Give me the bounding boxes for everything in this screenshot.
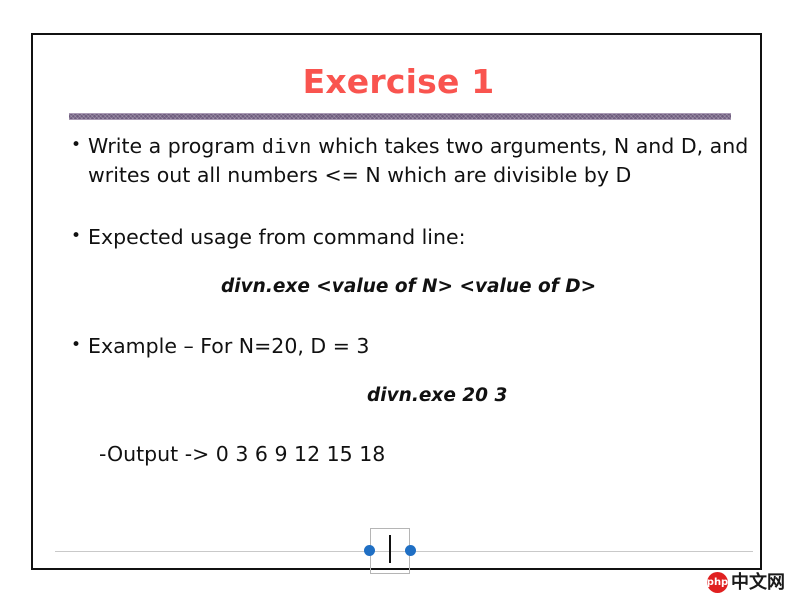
spacer bbox=[71, 406, 761, 442]
slide-frame: Exercise 1 • Write a program divn which … bbox=[31, 33, 762, 570]
bullet-marker-icon: • bbox=[71, 224, 88, 249]
spacer bbox=[71, 297, 761, 333]
text-caret bbox=[389, 535, 391, 563]
spacer bbox=[71, 359, 761, 385]
resize-handle-right[interactable] bbox=[405, 545, 416, 556]
bullet-item-example: • Example – For N=20, D = 3 bbox=[71, 333, 761, 359]
bullet-1-text-before-code: Write a program bbox=[88, 134, 262, 158]
spacer bbox=[71, 250, 761, 276]
selected-textbox[interactable] bbox=[370, 528, 410, 574]
watermark-badge-icon: php bbox=[707, 572, 728, 593]
title-divider-rule bbox=[69, 113, 731, 120]
bullet-marker-icon: • bbox=[71, 133, 88, 158]
bullet-item-write-program: • Write a program divn which takes two a… bbox=[71, 133, 761, 188]
bullet-item-expected-usage: • Expected usage from command line: bbox=[71, 224, 761, 250]
slide-body: • Write a program divn which takes two a… bbox=[71, 133, 761, 466]
resize-handle-left[interactable] bbox=[364, 545, 375, 556]
bullet-text-2: Expected usage from command line: bbox=[88, 224, 761, 250]
bullet-marker-icon: • bbox=[71, 333, 88, 358]
output-result-line: -Output -> 0 3 6 9 12 15 18 bbox=[99, 442, 761, 466]
bullet-text-3: Example – For N=20, D = 3 bbox=[88, 333, 761, 359]
watermark: php 中文网 bbox=[707, 572, 785, 593]
usage-code-line: divn.exe <value of N> <value of D> bbox=[221, 276, 761, 297]
bullet-text-1: Write a program divn which takes two arg… bbox=[88, 133, 761, 188]
page-title: Exercise 1 bbox=[33, 65, 764, 98]
spacer bbox=[71, 188, 761, 224]
watermark-label: 中文网 bbox=[731, 574, 785, 592]
inline-code-divn: divn bbox=[262, 137, 312, 160]
example-code-line: divn.exe 20 3 bbox=[367, 385, 761, 406]
